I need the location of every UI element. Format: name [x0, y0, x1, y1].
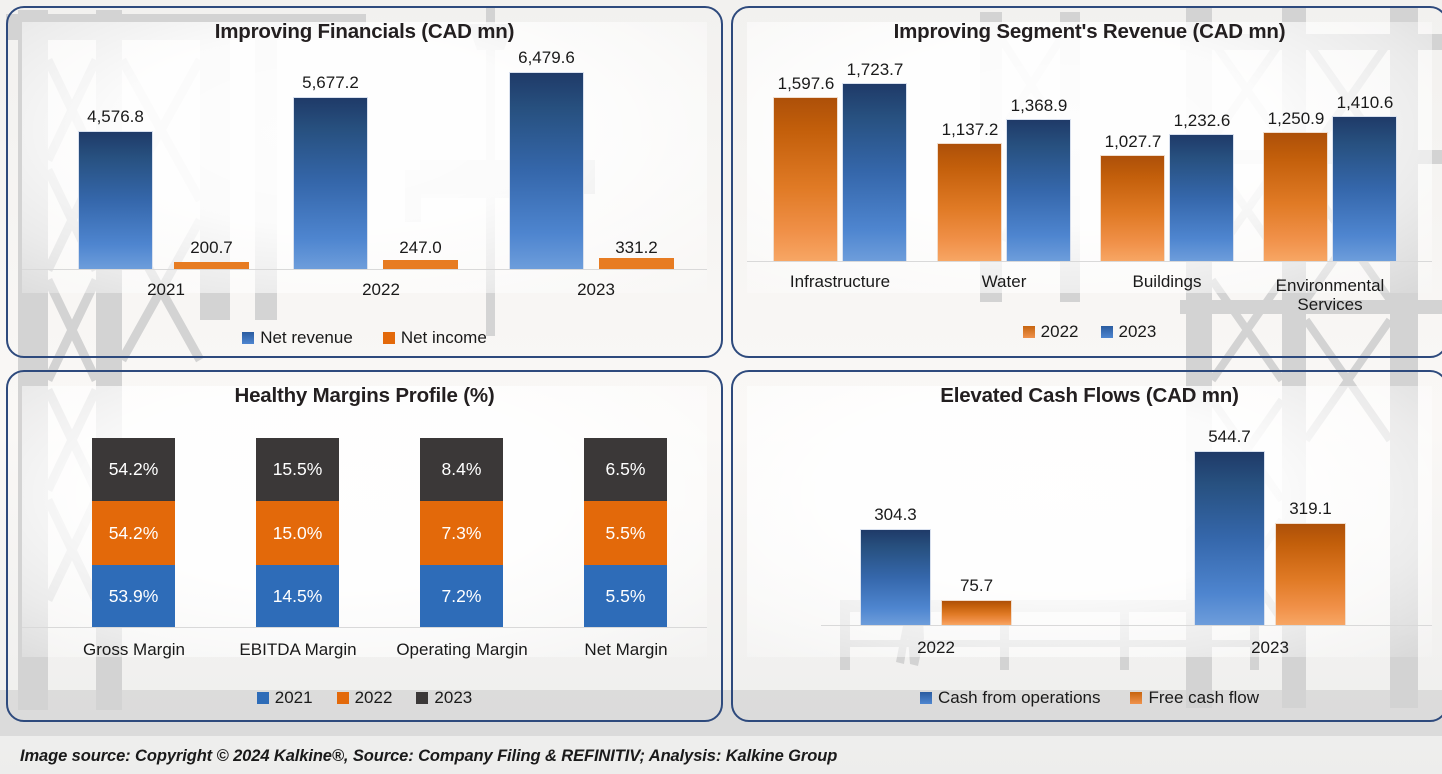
legend-label-2021: 2021: [275, 688, 313, 708]
legend-swatch-icon-2023: [416, 692, 428, 704]
legend-swatch-icon-net-revenue: [242, 332, 254, 344]
segment-2022-operating-margin[interactable]: 7.3%: [420, 501, 503, 565]
chart-plot-cashflows: 304.3 75.7 2022 544.7 319.1 2023: [741, 408, 1438, 688]
category-label-operating-margin: Operating Margin: [386, 640, 538, 660]
chart-legend-cashflows: Cash from operations Free cash flow: [741, 688, 1438, 716]
chart-legend-segments: 2022 2023: [741, 322, 1438, 352]
legend-label-net-revenue: Net revenue: [260, 328, 353, 348]
segment-2021-ebitda-margin[interactable]: 14.5%: [256, 565, 339, 628]
legend-swatch-icon-free-cash-flow: [1130, 692, 1142, 704]
bar-2023-buildings[interactable]: [1169, 134, 1234, 262]
legend-label-2022: 2022: [355, 688, 393, 708]
category-label-2023: 2023: [536, 280, 656, 300]
stack-ebitda-margin[interactable]: 15.5% 15.0% 14.5%: [256, 438, 339, 628]
legend-item-2023[interactable]: 2023: [1101, 322, 1157, 342]
legend-label-2023: 2023: [1119, 322, 1157, 342]
data-label-net-income-2021: 200.7: [154, 238, 269, 258]
legend-item-free-cash-flow[interactable]: Free cash flow: [1130, 688, 1259, 708]
chart-legend-margins: 2021 2022 2023: [16, 688, 713, 716]
data-label-net-income-2022: 247.0: [363, 238, 478, 258]
bar-free-cash-flow-2022[interactable]: [941, 600, 1012, 626]
data-label-free-cash-flow-2023: 319.1: [1258, 499, 1363, 519]
bar-2022-environmental-services[interactable]: [1263, 132, 1328, 262]
legend-label-2023: 2023: [434, 688, 472, 708]
bar-free-cash-flow-2023[interactable]: [1275, 523, 1346, 626]
bar-2023-infrastructure[interactable]: [842, 83, 907, 262]
category-label-2022: 2022: [876, 638, 996, 658]
legend-label-2022: 2022: [1041, 322, 1079, 342]
segment-2022-ebitda-margin[interactable]: 15.0%: [256, 501, 339, 565]
segment-2021-net-margin[interactable]: 5.5%: [584, 565, 667, 628]
legend-item-net-revenue[interactable]: Net revenue: [242, 328, 353, 348]
legend-swatch-icon-2022: [337, 692, 349, 704]
legend-item-cash-from-operations[interactable]: Cash from operations: [920, 688, 1101, 708]
category-label-net-margin: Net Margin: [555, 640, 697, 660]
legend-item-2021[interactable]: 2021: [257, 688, 313, 708]
bar-cash-from-operations-2023[interactable]: [1194, 451, 1265, 626]
bar-cash-from-operations-2022[interactable]: [860, 529, 931, 626]
panel-improving-segment-revenue: Improving Segment's Revenue (CAD mn) 1,5…: [731, 6, 1442, 358]
category-label-environmental-services: Environmental Services: [1260, 277, 1400, 314]
data-label-2023-environmental-services: 1,410.6: [1315, 93, 1415, 113]
legend-swatch-icon-2023: [1101, 326, 1113, 338]
bar-net-revenue-2022[interactable]: [293, 97, 368, 270]
category-label-gross-margin: Gross Margin: [63, 640, 205, 660]
axis-baseline: [747, 261, 1432, 262]
page-title: Healthy Margins Profile (%): [16, 384, 713, 408]
legend-item-2022[interactable]: 2022: [337, 688, 393, 708]
legend-label-net-income: Net income: [401, 328, 487, 348]
bar-net-revenue-2021[interactable]: [78, 131, 153, 270]
data-label-cash-from-operations-2023: 544.7: [1177, 427, 1282, 447]
panel-elevated-cash-flows: Elevated Cash Flows (CAD mn) 304.3 75.7 …: [731, 370, 1442, 722]
data-label-cash-from-operations-2022: 304.3: [843, 505, 948, 525]
chart-plot-margins: 54.2% 54.2% 53.9% Gross Margin 15.5% 15.…: [16, 408, 713, 688]
panel-healthy-margins-profile: Healthy Margins Profile (%) 54.2% 54.2% …: [6, 370, 723, 722]
data-label-2022-buildings: 1,027.7: [1083, 132, 1183, 152]
category-label-ebitda-margin: EBITDA Margin: [227, 640, 369, 660]
legend-swatch-icon-cash-from-operations: [920, 692, 932, 704]
bar-2022-water[interactable]: [937, 143, 1002, 262]
category-label-2021: 2021: [106, 280, 226, 300]
segment-2023-operating-margin[interactable]: 8.4%: [420, 438, 503, 501]
legend-swatch-icon-2022: [1023, 326, 1035, 338]
category-label-2023: 2023: [1210, 638, 1330, 658]
bar-2023-environmental-services[interactable]: [1332, 116, 1397, 262]
segment-2023-net-margin[interactable]: 6.5%: [584, 438, 667, 501]
category-label-2022: 2022: [321, 280, 441, 300]
bar-net-revenue-2023[interactable]: [509, 72, 584, 270]
segment-2022-gross-margin[interactable]: 54.2%: [92, 501, 175, 565]
chart-legend-financials: Net revenue Net income: [16, 328, 713, 352]
data-label-net-revenue-2022: 5,677.2: [273, 73, 388, 93]
image-source-footer: Image source: Copyright © 2024 Kalkine®,…: [20, 747, 837, 766]
data-label-2023-buildings: 1,232.6: [1152, 111, 1252, 131]
segment-2022-net-margin[interactable]: 5.5%: [584, 501, 667, 565]
data-label-net-income-2023: 331.2: [579, 238, 694, 258]
category-label-buildings: Buildings: [1097, 272, 1237, 292]
data-label-free-cash-flow-2022: 75.7: [924, 576, 1029, 596]
segment-2021-operating-margin[interactable]: 7.2%: [420, 565, 503, 628]
category-label-infrastructure: Infrastructure: [770, 272, 910, 292]
axis-baseline: [821, 625, 1432, 626]
bar-2023-water[interactable]: [1006, 119, 1071, 262]
segment-2023-ebitda-margin[interactable]: 15.5%: [256, 438, 339, 501]
charts-grid: Improving Financials (CAD mn) 4,576.8 20…: [0, 0, 1442, 730]
page-title: Improving Segment's Revenue (CAD mn): [741, 20, 1438, 44]
data-label-2022-water: 1,137.2: [920, 120, 1020, 140]
axis-baseline: [22, 627, 707, 628]
panel-improving-financials: Improving Financials (CAD mn) 4,576.8 20…: [6, 6, 723, 358]
page-title: Improving Financials (CAD mn): [16, 20, 713, 44]
page-title: Elevated Cash Flows (CAD mn): [741, 384, 1438, 408]
legend-label-cash-from-operations: Cash from operations: [938, 688, 1101, 708]
chart-plot-financials: 4,576.8 200.7 2021 5,677.2 247.0 2022 6,…: [16, 44, 713, 328]
legend-item-2023[interactable]: 2023: [416, 688, 472, 708]
data-label-net-revenue-2021: 4,576.8: [58, 107, 173, 127]
legend-swatch-icon-net-income: [383, 332, 395, 344]
data-label-net-revenue-2023: 6,479.6: [489, 48, 604, 68]
stack-net-margin[interactable]: 6.5% 5.5% 5.5%: [584, 438, 667, 628]
legend-item-2022[interactable]: 2022: [1023, 322, 1079, 342]
bar-2022-buildings[interactable]: [1100, 155, 1165, 262]
legend-swatch-icon-2021: [257, 692, 269, 704]
stack-gross-margin[interactable]: 54.2% 54.2% 53.9%: [92, 438, 175, 628]
legend-label-free-cash-flow: Free cash flow: [1148, 688, 1259, 708]
axis-baseline: [22, 269, 707, 270]
chart-plot-segments: 1,597.6 1,723.7 Infrastructure 1,137.2 1…: [741, 44, 1438, 322]
segment-2021-gross-margin[interactable]: 53.9%: [92, 565, 175, 628]
data-label-2023-water: 1,368.9: [989, 96, 1089, 116]
stack-operating-margin[interactable]: 8.4% 7.3% 7.2%: [420, 438, 503, 628]
legend-item-net-income[interactable]: Net income: [383, 328, 487, 348]
segment-2023-gross-margin[interactable]: 54.2%: [92, 438, 175, 501]
category-label-water: Water: [934, 272, 1074, 292]
bar-2022-infrastructure[interactable]: [773, 97, 838, 262]
data-label-2023-infrastructure: 1,723.7: [825, 60, 925, 80]
